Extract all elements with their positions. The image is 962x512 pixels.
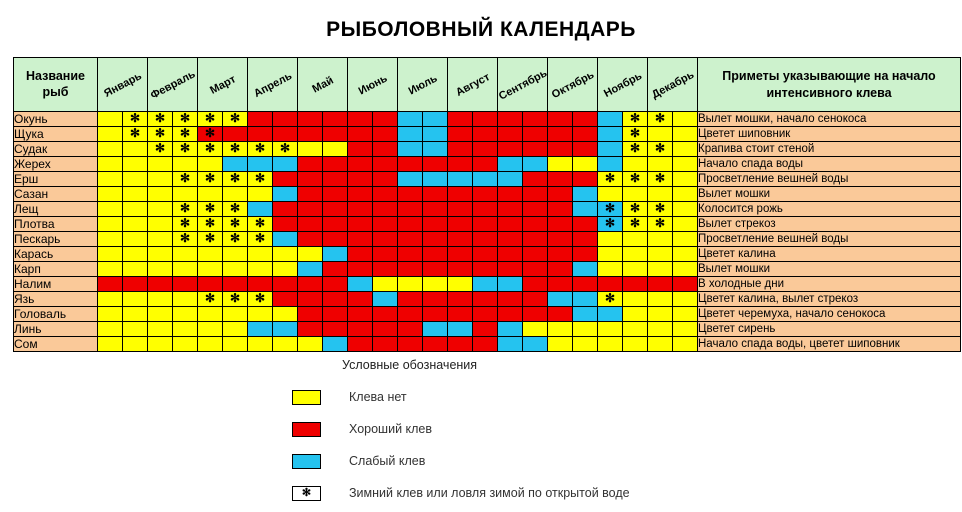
header-month-4: Апрель xyxy=(248,58,298,112)
winter-fishing-icon: ✻ xyxy=(180,111,190,125)
bite-cell: ✻ xyxy=(623,112,648,127)
bite-cell xyxy=(548,322,573,337)
bite-cell xyxy=(248,112,273,127)
bite-cell xyxy=(598,142,623,157)
bite-cell xyxy=(98,187,123,202)
table-row: Лещ✻✻✻✻✻✻Колосится рожь xyxy=(14,202,961,217)
bite-cell xyxy=(423,292,448,307)
bite-cell xyxy=(498,202,523,217)
bite-cell xyxy=(398,202,423,217)
winter-fishing-icon: ✻ xyxy=(630,216,640,230)
winter-fishing-icon: ✻ xyxy=(605,171,615,185)
header-row: Название рыб ЯнварьФевральМартАпрельМайИ… xyxy=(14,58,961,112)
bite-cell xyxy=(273,247,298,262)
bite-cell xyxy=(598,277,623,292)
bite-cell xyxy=(248,307,273,322)
bite-cell: ✻ xyxy=(148,142,173,157)
omen-cell: Просветление вешней воды xyxy=(698,232,961,247)
bite-cell xyxy=(673,322,698,337)
bite-cell xyxy=(473,142,498,157)
fish-name-cell: Жерех xyxy=(14,157,98,172)
bite-cell xyxy=(598,112,623,127)
bite-cell xyxy=(473,157,498,172)
bite-cell xyxy=(623,337,648,352)
winter-fishing-icon: ✻ xyxy=(230,291,240,305)
bite-cell xyxy=(348,142,373,157)
header-month-10: Октябрь xyxy=(548,58,598,112)
winter-fishing-icon: ✻ xyxy=(605,201,615,215)
bite-cell xyxy=(473,292,498,307)
winter-fishing-icon: ✻ xyxy=(280,141,290,155)
bite-cell xyxy=(323,292,348,307)
bite-cell xyxy=(598,232,623,247)
bite-cell xyxy=(148,202,173,217)
bite-cell xyxy=(473,217,498,232)
bite-cell xyxy=(348,112,373,127)
bite-cell xyxy=(498,262,523,277)
bite-cell xyxy=(248,187,273,202)
bite-cell xyxy=(398,247,423,262)
bite-cell xyxy=(673,337,698,352)
bite-cell xyxy=(448,277,473,292)
bite-cell: ✻ xyxy=(248,217,273,232)
bite-cell xyxy=(348,337,373,352)
legend-items: Клева нетХороший клевСлабый клев✻Зимний … xyxy=(280,384,710,506)
table-header: Название рыб ЯнварьФевральМартАпрельМайИ… xyxy=(14,58,961,112)
omen-cell: Цветет калина xyxy=(698,247,961,262)
bite-cell xyxy=(548,277,573,292)
bite-cell xyxy=(173,337,198,352)
bite-cell xyxy=(498,247,523,262)
bite-cell xyxy=(573,187,598,202)
bite-cell xyxy=(98,262,123,277)
bite-cell xyxy=(248,277,273,292)
bite-cell xyxy=(173,247,198,262)
header-month-12: Декабрь xyxy=(648,58,698,112)
winter-fishing-icon: ✻ xyxy=(205,231,215,245)
winter-fishing-icon: ✻ xyxy=(630,126,640,140)
bite-cell xyxy=(448,292,473,307)
bite-cell xyxy=(123,217,148,232)
bite-cell xyxy=(673,112,698,127)
bite-cell xyxy=(323,322,348,337)
bite-cell xyxy=(523,187,548,202)
winter-fishing-icon: ✻ xyxy=(205,171,215,185)
month-label: Апрель xyxy=(251,70,293,100)
winter-fishing-icon: ✻ xyxy=(180,171,190,185)
bite-cell xyxy=(673,172,698,187)
bite-cell xyxy=(223,262,248,277)
bite-cell xyxy=(123,142,148,157)
bite-cell xyxy=(673,127,698,142)
omen-cell: Колосится рожь xyxy=(698,202,961,217)
bite-cell xyxy=(223,337,248,352)
bite-cell xyxy=(548,232,573,247)
winter-fishing-icon: ✻ xyxy=(255,231,265,245)
bite-cell xyxy=(373,232,398,247)
table-row: ЖерехНачало спада воды xyxy=(14,157,961,172)
bite-cell xyxy=(323,172,348,187)
winter-fishing-icon: ✻ xyxy=(630,201,640,215)
bite-cell xyxy=(673,217,698,232)
bite-cell xyxy=(573,127,598,142)
bite-cell xyxy=(523,322,548,337)
bite-cell xyxy=(448,337,473,352)
bite-cell xyxy=(148,337,173,352)
bite-cell xyxy=(98,277,123,292)
bite-cell xyxy=(348,262,373,277)
bite-cell xyxy=(623,307,648,322)
bite-cell: ✻ xyxy=(173,202,198,217)
bite-cell xyxy=(273,292,298,307)
bite-cell xyxy=(423,322,448,337)
bite-cell xyxy=(673,262,698,277)
table-row: СомНачало спада воды, цветет шиповник xyxy=(14,337,961,352)
bite-cell: ✻ xyxy=(623,127,648,142)
bite-cell xyxy=(523,337,548,352)
bite-cell xyxy=(448,172,473,187)
bite-cell xyxy=(623,262,648,277)
bite-cell xyxy=(323,127,348,142)
bite-cell xyxy=(348,217,373,232)
bite-cell xyxy=(523,277,548,292)
month-label: Январь xyxy=(102,70,144,100)
bite-cell xyxy=(98,217,123,232)
winter-fishing-icon: ✻ xyxy=(205,126,215,140)
bite-cell xyxy=(123,307,148,322)
bite-cell xyxy=(273,232,298,247)
bite-cell xyxy=(473,322,498,337)
fish-name-cell: Пескарь xyxy=(14,232,98,247)
bite-cell: ✻ xyxy=(648,202,673,217)
winter-fishing-icon: ✻ xyxy=(605,216,615,230)
bite-cell: ✻ xyxy=(248,232,273,247)
bite-cell xyxy=(298,172,323,187)
winter-fishing-icon: ✻ xyxy=(230,231,240,245)
bite-cell xyxy=(373,322,398,337)
bite-cell xyxy=(98,322,123,337)
bite-cell xyxy=(573,337,598,352)
bite-cell: ✻ xyxy=(598,172,623,187)
bite-cell xyxy=(398,157,423,172)
bite-cell xyxy=(573,202,598,217)
bite-cell: ✻ xyxy=(173,232,198,247)
legend-item-none: Клева нет xyxy=(280,384,710,410)
bite-cell xyxy=(398,112,423,127)
bite-cell xyxy=(398,142,423,157)
bite-cell xyxy=(323,337,348,352)
bite-cell xyxy=(248,247,273,262)
bite-cell xyxy=(323,247,348,262)
bite-cell xyxy=(573,277,598,292)
bite-cell xyxy=(273,262,298,277)
bite-cell xyxy=(423,127,448,142)
bite-cell xyxy=(348,307,373,322)
bite-cell xyxy=(298,277,323,292)
bite-cell xyxy=(173,322,198,337)
bite-cell xyxy=(673,157,698,172)
bite-cell xyxy=(573,247,598,262)
bite-cell xyxy=(473,172,498,187)
bite-cell xyxy=(123,232,148,247)
bite-cell: ✻ xyxy=(648,172,673,187)
month-label: Август xyxy=(454,71,492,99)
bite-cell xyxy=(598,247,623,262)
bite-cell xyxy=(98,292,123,307)
bite-cell xyxy=(623,292,648,307)
bite-cell: ✻ xyxy=(148,112,173,127)
omen-cell: Начало спада воды, цветет шиповник xyxy=(698,337,961,352)
bite-cell: ✻ xyxy=(598,217,623,232)
bite-cell: ✻ xyxy=(173,127,198,142)
bite-cell xyxy=(498,157,523,172)
bite-cell xyxy=(423,172,448,187)
bite-cell: ✻ xyxy=(173,112,198,127)
bite-cell xyxy=(573,262,598,277)
legend-title: Условные обозначения xyxy=(280,358,710,372)
bite-cell xyxy=(548,202,573,217)
winter-fishing-icon: ✻ xyxy=(180,201,190,215)
bite-cell xyxy=(423,187,448,202)
bite-cell xyxy=(448,322,473,337)
bite-cell xyxy=(423,277,448,292)
bite-cell xyxy=(198,337,223,352)
bite-cell xyxy=(148,217,173,232)
bite-cell xyxy=(398,172,423,187)
fish-name-cell: Карп xyxy=(14,262,98,277)
bite-cell xyxy=(348,202,373,217)
winter-fishing-icon: ✻ xyxy=(655,201,665,215)
fish-name-cell: Плотва xyxy=(14,217,98,232)
bite-cell xyxy=(198,187,223,202)
bite-cell xyxy=(498,232,523,247)
fish-name-cell: Линь xyxy=(14,322,98,337)
winter-fishing-icon: ✻ xyxy=(205,111,215,125)
bite-cell xyxy=(223,187,248,202)
bite-cell xyxy=(223,277,248,292)
winter-fishing-icon: ✻ xyxy=(180,216,190,230)
bite-cell xyxy=(498,217,523,232)
bite-cell xyxy=(523,172,548,187)
winter-fishing-icon: ✻ xyxy=(155,126,165,140)
winter-fishing-icon: ✻ xyxy=(230,201,240,215)
bite-cell xyxy=(598,127,623,142)
bite-cell xyxy=(148,277,173,292)
bite-cell: ✻ xyxy=(198,127,223,142)
winter-fishing-icon: ✻ xyxy=(255,141,265,155)
fish-name-cell: Лещ xyxy=(14,202,98,217)
bite-cell xyxy=(498,112,523,127)
bite-cell xyxy=(123,157,148,172)
bite-cell xyxy=(573,307,598,322)
bite-cell xyxy=(473,337,498,352)
bite-cell xyxy=(623,322,648,337)
bite-cell xyxy=(448,187,473,202)
bite-cell xyxy=(98,337,123,352)
bite-cell: ✻ xyxy=(198,217,223,232)
winter-fishing-icon: ✻ xyxy=(655,216,665,230)
omen-cell: Вылет стрекоз xyxy=(698,217,961,232)
bite-cell: ✻ xyxy=(198,232,223,247)
bite-cell xyxy=(248,337,273,352)
bite-cell xyxy=(398,127,423,142)
bite-cell xyxy=(373,157,398,172)
bite-cell xyxy=(473,112,498,127)
table-row: Пескарь✻✻✻✻Просветление вешней воды xyxy=(14,232,961,247)
bite-cell xyxy=(473,127,498,142)
bite-cell: ✻ xyxy=(273,142,298,157)
bite-cell xyxy=(573,322,598,337)
bite-cell xyxy=(248,322,273,337)
bite-cell xyxy=(398,292,423,307)
bite-cell: ✻ xyxy=(248,172,273,187)
bite-cell xyxy=(548,187,573,202)
bite-cell: ✻ xyxy=(223,217,248,232)
header-month-5: Май xyxy=(298,58,348,112)
header-month-9: Сентябрь xyxy=(498,58,548,112)
bite-cell xyxy=(273,127,298,142)
bite-cell xyxy=(98,247,123,262)
legend-item-winter: ✻Зимний клев или ловля зимой по открытой… xyxy=(280,480,710,506)
header-month-2: Февраль xyxy=(148,58,198,112)
bite-cell xyxy=(423,112,448,127)
bite-cell xyxy=(173,187,198,202)
omen-cell: Крапива стоит стеной xyxy=(698,142,961,157)
bite-cell xyxy=(273,277,298,292)
bite-cell xyxy=(423,157,448,172)
winter-fishing-icon: ✻ xyxy=(205,216,215,230)
bite-cell xyxy=(273,337,298,352)
bite-cell xyxy=(298,322,323,337)
bite-cell xyxy=(123,262,148,277)
bite-cell xyxy=(648,157,673,172)
bite-cell xyxy=(648,337,673,352)
bite-cell xyxy=(398,187,423,202)
bite-cell xyxy=(423,232,448,247)
bite-cell xyxy=(373,142,398,157)
bite-cell: ✻ xyxy=(648,142,673,157)
bite-cell xyxy=(673,142,698,157)
bite-cell xyxy=(273,172,298,187)
header-month-6: Июнь xyxy=(348,58,398,112)
bite-cell xyxy=(448,307,473,322)
legend-item-weak: Слабый клев xyxy=(280,448,710,474)
omen-cell: Начало спада воды xyxy=(698,157,961,172)
bite-cell: ✻ xyxy=(198,202,223,217)
bite-cell xyxy=(173,157,198,172)
bite-cell xyxy=(273,217,298,232)
bite-cell xyxy=(198,157,223,172)
bite-cell xyxy=(648,277,673,292)
bite-cell xyxy=(273,202,298,217)
bite-cell xyxy=(423,337,448,352)
bite-cell: ✻ xyxy=(648,112,673,127)
bite-cell xyxy=(473,187,498,202)
legend-swatch-none xyxy=(292,390,321,405)
bite-cell xyxy=(673,247,698,262)
bite-cell xyxy=(423,247,448,262)
bite-cell xyxy=(573,232,598,247)
header-fish-name: Название рыб xyxy=(14,58,98,112)
bite-cell xyxy=(648,232,673,247)
bite-cell xyxy=(523,262,548,277)
page-title: РЫБОЛОВНЫЙ КАЛЕНДАРЬ xyxy=(0,18,962,42)
table-row: Ерш✻✻✻✻✻✻✻Просветление вешней воды xyxy=(14,172,961,187)
bite-cell xyxy=(523,157,548,172)
month-label: Май xyxy=(310,74,335,95)
month-label: Октябрь xyxy=(549,68,595,100)
header-month-1: Январь xyxy=(98,58,148,112)
bite-cell xyxy=(198,307,223,322)
bite-cell xyxy=(498,307,523,322)
bite-cell xyxy=(398,307,423,322)
bite-cell xyxy=(398,337,423,352)
table-row: КарпВылет мошки xyxy=(14,262,961,277)
month-label: Февраль xyxy=(148,68,197,102)
bite-cell xyxy=(198,247,223,262)
bite-cell xyxy=(398,277,423,292)
bite-cell xyxy=(398,232,423,247)
table-body: Окунь✻✻✻✻✻✻✻Вылет мошки, начало сенокоса… xyxy=(14,112,961,352)
bite-cell xyxy=(348,157,373,172)
header-omens: Приметы указывающие на начало интенсивно… xyxy=(698,58,961,112)
bite-cell xyxy=(298,127,323,142)
bite-cell xyxy=(323,202,348,217)
bite-cell xyxy=(523,142,548,157)
bite-cell xyxy=(423,217,448,232)
bite-cell: ✻ xyxy=(223,142,248,157)
bite-cell xyxy=(248,262,273,277)
bite-cell xyxy=(148,232,173,247)
bite-cell xyxy=(498,172,523,187)
bite-cell xyxy=(623,232,648,247)
winter-fishing-icon: ✻ xyxy=(630,141,640,155)
legend-label-none: Клева нет xyxy=(349,390,407,404)
bite-cell xyxy=(448,202,473,217)
bite-cell xyxy=(373,307,398,322)
bite-cell xyxy=(298,217,323,232)
winter-fishing-icon: ✻ xyxy=(255,291,265,305)
winter-fishing-icon: ✻ xyxy=(205,201,215,215)
bite-cell xyxy=(323,232,348,247)
fish-name-cell: Окунь xyxy=(14,112,98,127)
bite-cell xyxy=(648,187,673,202)
bite-cell xyxy=(473,202,498,217)
bite-cell: ✻ xyxy=(123,127,148,142)
bite-cell xyxy=(348,277,373,292)
bite-cell xyxy=(398,322,423,337)
bite-cell xyxy=(323,187,348,202)
omen-cell: Вылет мошки xyxy=(698,262,961,277)
winter-fishing-icon: ✻ xyxy=(230,111,240,125)
bite-cell xyxy=(298,307,323,322)
bite-cell xyxy=(323,262,348,277)
table-row: НалимВ холодные дни xyxy=(14,277,961,292)
bite-cell xyxy=(398,217,423,232)
table-row: СазанВылет мошки xyxy=(14,187,961,202)
bite-cell xyxy=(323,157,348,172)
bite-cell xyxy=(548,217,573,232)
omen-cell: Цветет калина, вылет стрекоз xyxy=(698,292,961,307)
bite-cell xyxy=(148,292,173,307)
bite-cell: ✻ xyxy=(223,232,248,247)
bite-cell xyxy=(273,307,298,322)
bite-cell xyxy=(348,172,373,187)
winter-fishing-icon: ✻ xyxy=(230,216,240,230)
bite-cell xyxy=(273,157,298,172)
bite-cell xyxy=(523,307,548,322)
bite-cell xyxy=(673,232,698,247)
